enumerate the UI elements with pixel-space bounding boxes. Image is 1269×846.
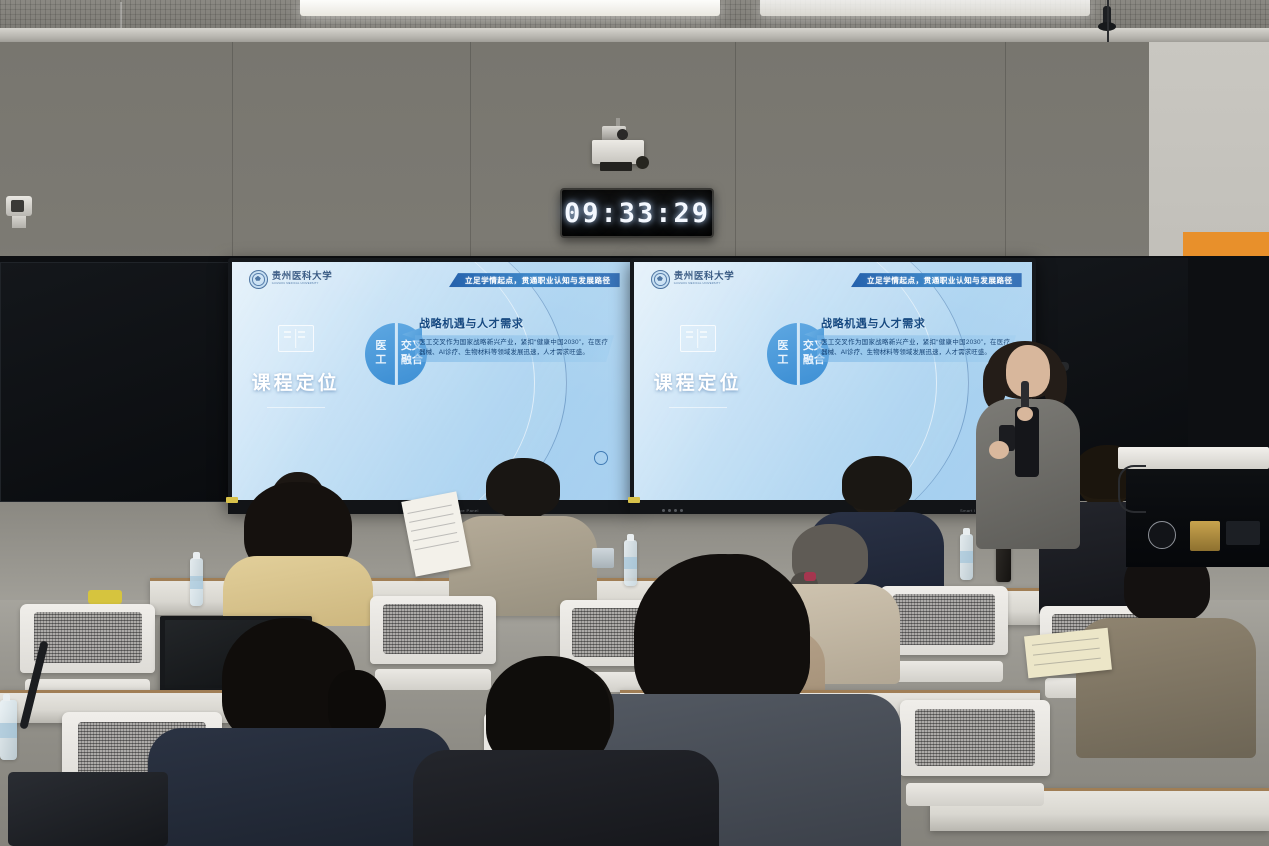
logo-chinese-name: 贵州医科大学 xyxy=(272,272,333,282)
attendee-navy-vest xyxy=(150,628,450,846)
slide-banner-text: 立足学情起点，贯通职业认知与发展路径 xyxy=(867,275,1013,286)
slide-left-panel: 课程定位 xyxy=(244,325,347,408)
rack-dial-icon[interactable] xyxy=(1148,521,1176,549)
chair[interactable] xyxy=(900,700,1050,806)
paper-stack xyxy=(1024,628,1112,679)
yellow-item xyxy=(88,590,122,604)
attendee-cream-sweater xyxy=(228,472,368,612)
bezel-buttons[interactable] xyxy=(662,509,683,512)
heading-underline xyxy=(267,407,325,408)
circle-char-1: 医 xyxy=(777,341,788,353)
attendee-black-coat xyxy=(416,664,716,846)
slide-left-heading: 课程定位 xyxy=(646,368,749,395)
callout-title: 战略机遇与人才需求 xyxy=(821,315,1016,331)
lecture-hall-scene: 09:33:29 贵州医科大学 GUIZHOU MEDICAL UNIVERSI… xyxy=(0,0,1269,846)
university-seal-icon xyxy=(651,270,670,289)
slide-callout: 战略机遇与人才需求 医工交叉作为国家战略新兴产业，紧扣“健康中国2030”，在医… xyxy=(415,315,614,362)
cup xyxy=(592,548,614,568)
university-logo: 贵州医科大学 GUIZHOU MEDICAL UNIVERSITY xyxy=(651,270,735,289)
slide-banner-text: 立足学情起点，贯通职业认知与发展路径 xyxy=(465,275,611,286)
logo-chinese-name: 贵州医科大学 xyxy=(674,272,735,282)
water-bottle xyxy=(190,558,203,606)
slide-left-panel: 课程定位 xyxy=(646,325,749,408)
book-icon xyxy=(680,325,716,352)
water-bottle xyxy=(0,700,17,760)
book-icon xyxy=(278,325,314,352)
ceiling-light-strip xyxy=(300,0,720,16)
circle-char-2: 工 xyxy=(375,355,386,367)
display-cable xyxy=(1107,0,1109,44)
logo-english-name: GUIZHOU MEDICAL UNIVERSITY xyxy=(674,283,735,286)
circle-char-2: 工 xyxy=(777,355,788,367)
ceiling-seam xyxy=(120,2,122,30)
logo-english-name: GUIZHOU MEDICAL UNIVERSITY xyxy=(272,283,333,286)
blank-panel-left xyxy=(0,262,230,502)
water-bottle xyxy=(960,534,973,580)
shoulder-bag xyxy=(8,772,168,846)
university-seal-icon xyxy=(249,270,268,289)
wall-digital-clock: 09:33:29 xyxy=(560,188,714,238)
ceiling xyxy=(0,0,1269,42)
slide-banner: 立足学情起点，贯通职业认知与发展路径 xyxy=(851,273,1022,287)
av-equipment-rack[interactable] xyxy=(1118,447,1269,567)
rack-module-2 xyxy=(1226,521,1260,545)
circle-char-1: 医 xyxy=(375,341,386,353)
rack-cable xyxy=(1118,465,1146,513)
slide-left-heading: 课程定位 xyxy=(244,368,347,395)
callout-title: 战略机遇与人才需求 xyxy=(419,315,614,331)
heading-underline xyxy=(669,407,727,408)
clock-time-display: 09:33:29 xyxy=(564,198,710,229)
ceiling-light-strip-2 xyxy=(760,0,1090,16)
ceiling-projector-camera-icon xyxy=(592,126,644,164)
security-camera-icon xyxy=(6,196,32,226)
rack-module xyxy=(1190,521,1220,551)
callout-body-text: 医工交叉作为国家战略新兴产业，紧扣“健康中国2030”，在医疗器械、AI诊疗、生… xyxy=(419,338,608,358)
bezel-marker xyxy=(628,497,640,503)
university-logo: 贵州医科大学 GUIZHOU MEDICAL UNIVERSITY xyxy=(249,270,333,289)
slide-banner: 立足学情起点，贯通职业认知与发展路径 xyxy=(449,273,620,287)
